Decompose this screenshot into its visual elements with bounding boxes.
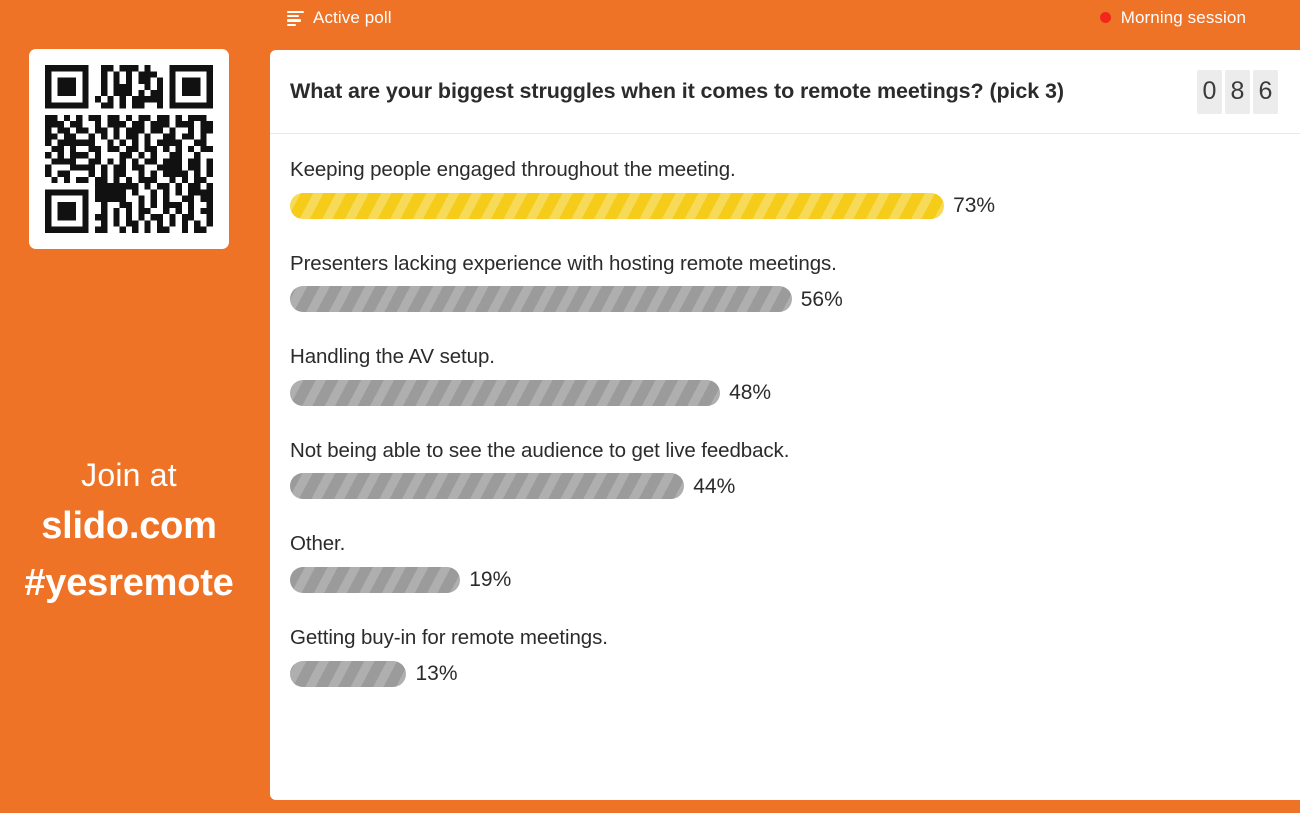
poll-option-bar bbox=[290, 380, 720, 406]
response-counter-digit: 0 bbox=[1197, 70, 1222, 114]
poll-option-percent: 44% bbox=[693, 476, 735, 497]
poll-result-row: Presenters lacking experience with hosti… bbox=[290, 252, 1280, 313]
event-code-label: #yesremote bbox=[0, 554, 258, 612]
poll-header: What are your biggest struggles when it … bbox=[270, 50, 1300, 134]
qr-code bbox=[29, 49, 229, 249]
poll-option-bar-line: 56% bbox=[290, 286, 1280, 312]
poll-card: What are your biggest struggles when it … bbox=[270, 50, 1300, 800]
join-at-label: Join at bbox=[0, 452, 258, 498]
poll-option-bar-line: 19% bbox=[290, 567, 1280, 593]
poll-option-bar bbox=[290, 473, 684, 499]
poll-option-percent: 56% bbox=[801, 289, 843, 310]
poll-result-row: Not being able to see the audience to ge… bbox=[290, 439, 1280, 500]
response-counter-digit: 8 bbox=[1225, 70, 1250, 114]
poll-option-bar-line: 13% bbox=[290, 661, 1280, 687]
live-indicator-dot bbox=[1100, 12, 1111, 23]
poll-option-bar bbox=[290, 193, 944, 219]
session-name-label: Morning session bbox=[1121, 9, 1246, 26]
poll-option-label: Other. bbox=[290, 532, 1280, 557]
poll-option-percent: 48% bbox=[729, 382, 771, 403]
poll-option-label: Handling the AV setup. bbox=[290, 345, 1280, 370]
session-status: Morning session bbox=[1100, 9, 1246, 26]
active-poll-label: Active poll bbox=[313, 9, 392, 26]
active-poll-status: Active poll bbox=[287, 9, 392, 26]
poll-result-row: Keeping people engaged throughout the me… bbox=[290, 158, 1280, 219]
sidebar: Join at slido.com #yesremote bbox=[0, 0, 258, 813]
poll-result-row: Getting buy-in for remote meetings. 13% bbox=[290, 626, 1280, 687]
qr-code-graphic bbox=[39, 59, 219, 239]
poll-option-percent: 19% bbox=[469, 569, 511, 590]
poll-question: What are your biggest struggles when it … bbox=[290, 78, 1197, 105]
poll-option-bar-line: 48% bbox=[290, 380, 1280, 406]
poll-option-bar bbox=[290, 567, 460, 593]
poll-option-bar-line: 73% bbox=[290, 193, 1280, 219]
response-counter-digit: 6 bbox=[1253, 70, 1278, 114]
poll-results-list: Keeping people engaged throughout the me… bbox=[270, 134, 1300, 687]
poll-option-label: Presenters lacking experience with hosti… bbox=[290, 252, 1280, 277]
response-counter: 0 8 6 bbox=[1197, 70, 1278, 114]
poll-result-row: Other. 19% bbox=[290, 532, 1280, 593]
poll-list-icon bbox=[287, 11, 304, 25]
poll-option-label: Getting buy-in for remote meetings. bbox=[290, 626, 1280, 651]
join-domain-label: slido.com bbox=[0, 498, 258, 554]
poll-option-bar-line: 44% bbox=[290, 473, 1280, 499]
poll-option-label: Not being able to see the audience to ge… bbox=[290, 439, 1280, 464]
poll-option-label: Keeping people engaged throughout the me… bbox=[290, 158, 1280, 183]
poll-option-bar bbox=[290, 661, 406, 687]
poll-option-bar bbox=[290, 286, 792, 312]
poll-option-percent: 73% bbox=[953, 195, 995, 216]
join-instructions: Join at slido.com #yesremote bbox=[0, 452, 258, 612]
poll-option-percent: 13% bbox=[415, 663, 457, 684]
poll-result-row: Handling the AV setup. 48% bbox=[290, 345, 1280, 406]
